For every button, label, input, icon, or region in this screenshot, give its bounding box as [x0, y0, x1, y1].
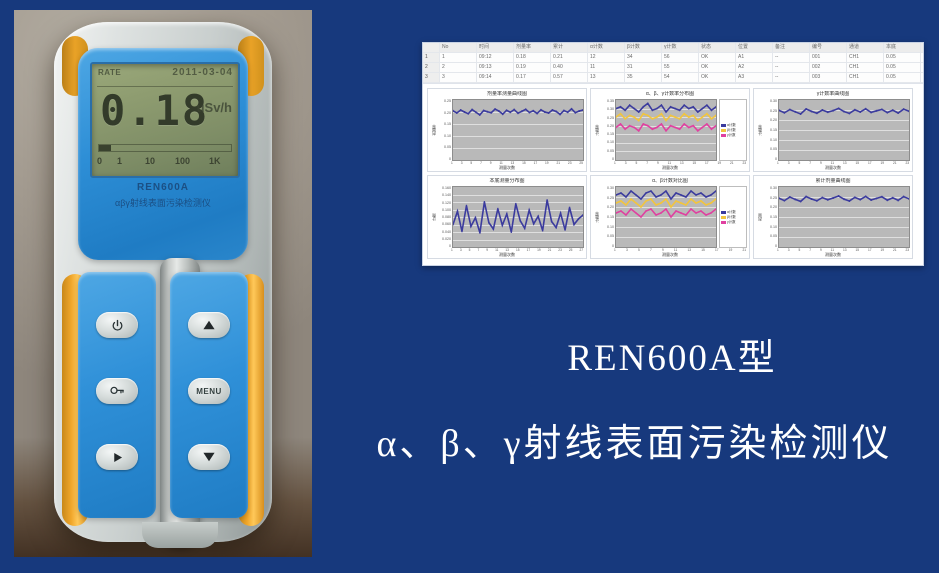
y-tick-label: 0.15	[600, 215, 614, 219]
series-marker	[860, 199, 861, 201]
series-marker	[716, 198, 717, 200]
table-row: 4409:150.180.75123357OKA4--004CH10.0532%…	[423, 83, 923, 84]
legend-item: β计数	[721, 128, 745, 132]
table-cell: 0.05	[884, 63, 921, 72]
spreadsheet-header-row: No时间剂量率累计α计数β计数γ计数状态位置备注编号通道本底效率均值	[423, 43, 923, 53]
series-marker	[461, 230, 462, 232]
series-marker	[506, 213, 507, 215]
series-marker	[832, 110, 833, 112]
y-tick-label: 0	[437, 244, 451, 248]
series-marker	[706, 196, 707, 198]
series-marker	[688, 116, 689, 118]
series-marker	[520, 220, 521, 222]
chart-x-axis-label: 测量次数	[591, 165, 749, 171]
y-tick-label: 0.060	[437, 222, 451, 226]
series-marker	[525, 108, 526, 110]
table-cell: 0.17	[514, 73, 551, 82]
chart-background: 本底测量分布图计数0.1600.1400.1200.1000.0800.0600…	[427, 175, 587, 259]
legend-swatch	[721, 134, 726, 137]
series-marker	[620, 123, 621, 125]
series-marker	[854, 196, 855, 198]
column-header-cell: 累计	[551, 43, 588, 52]
lcd-status-left: RATE	[98, 68, 121, 77]
series-marker	[811, 198, 812, 200]
series-marker	[681, 212, 682, 214]
series-marker	[631, 208, 632, 210]
y-tick-label: 0.05	[600, 234, 614, 238]
series-marker	[661, 123, 662, 125]
series-marker	[488, 222, 489, 224]
series-marker	[892, 109, 893, 111]
series-marker	[514, 109, 515, 111]
series-marker	[903, 108, 904, 110]
lcd-scale-4: 1K	[209, 156, 231, 166]
series-marker	[651, 198, 652, 200]
series-marker	[638, 130, 639, 132]
y-tick-label: 0	[600, 157, 614, 161]
row-index-cell	[423, 43, 440, 52]
caption-model: REN600A型	[422, 327, 922, 381]
series-marker	[691, 198, 692, 200]
y-tick-label: 0.30	[763, 186, 777, 190]
y-tick-label: 0	[763, 244, 777, 248]
series-marker	[506, 109, 507, 111]
table-cell: 0.21	[551, 53, 588, 62]
y-tick-label: 0.20	[600, 205, 614, 209]
series-marker	[706, 113, 707, 115]
chart-y-axis-label: 计数率	[593, 186, 600, 248]
legend-swatch	[721, 221, 726, 224]
series-marker	[638, 120, 639, 122]
table-cell: 13	[588, 73, 625, 82]
series-marker	[800, 200, 801, 202]
series-marker	[670, 114, 671, 116]
series-marker	[822, 109, 823, 111]
series-marker	[671, 206, 672, 208]
row-index-cell: 3	[423, 73, 440, 82]
series-marker	[629, 114, 630, 116]
table-cell: 0.18	[514, 83, 551, 84]
table-cell: 004	[810, 83, 847, 84]
table-cell: 09:15	[477, 83, 514, 84]
table-cell: CH1	[847, 53, 884, 62]
chart-title: 本底测量分布图	[430, 178, 584, 185]
chart-y-ticks: 0.300.250.200.150.100.050	[763, 99, 778, 161]
series-line	[616, 103, 716, 112]
series-marker	[666, 111, 667, 113]
table-cell: 1	[440, 53, 477, 62]
chart-y-ticks: 0.300.250.200.150.100.050	[763, 186, 778, 248]
chart-body: 计数率0.350.300.250.200.150.100.050α计数β计数γ计…	[593, 99, 747, 161]
table-row: 2209:130.190.40113155OKA2--002CH10.0532%…	[423, 63, 923, 73]
series-marker	[706, 204, 707, 206]
row-index-cell: 1	[423, 53, 440, 62]
series-marker	[471, 109, 472, 111]
legend-item: β计数	[721, 215, 745, 219]
series-marker	[666, 120, 667, 122]
series-marker	[579, 110, 580, 112]
series-marker	[897, 112, 898, 114]
data-spreadsheet[interactable]: No时间剂量率累计α计数β计数γ计数状态位置备注编号通道本底效率均值1109:1…	[423, 43, 923, 84]
table-cell: A4	[736, 83, 773, 84]
series-marker	[881, 108, 882, 110]
play-icon	[111, 451, 124, 464]
series-marker	[656, 204, 657, 206]
series-marker	[865, 195, 866, 197]
table-cell: 32%	[921, 53, 923, 62]
legend-label: γ计数	[727, 133, 735, 137]
series-marker	[661, 202, 662, 204]
series-marker	[529, 112, 530, 114]
series-marker	[805, 108, 806, 110]
series-marker	[629, 125, 630, 127]
series-marker	[479, 232, 480, 234]
y-tick-label: 0.25	[763, 109, 777, 113]
series-marker	[544, 111, 545, 113]
series-marker	[666, 130, 667, 132]
y-tick-label: 0	[763, 157, 777, 161]
series-marker	[688, 108, 689, 110]
series-marker	[453, 110, 454, 112]
series-marker	[647, 114, 648, 116]
chart-x-axis-label: 测量次数	[428, 165, 586, 171]
y-tick-label: 0.020	[437, 237, 451, 241]
series-marker	[646, 200, 647, 202]
series-marker	[697, 111, 698, 113]
column-header-cell: 位置	[736, 43, 773, 52]
chart-y-ticks: 0.350.300.250.200.150.100.050	[600, 99, 615, 161]
table-cell: 001	[810, 53, 847, 62]
series-marker	[468, 113, 469, 115]
table-cell: 32%	[921, 73, 923, 82]
table-cell: 0.05	[884, 83, 921, 84]
series-marker	[684, 123, 685, 125]
series-marker	[865, 108, 866, 110]
y-tick-label: 0.120	[437, 201, 451, 205]
series-marker	[626, 196, 627, 198]
chart-y-axis-label: 计数率	[593, 99, 600, 161]
chart-title: 累计剂量曲线图	[756, 178, 910, 185]
series-marker	[484, 201, 485, 203]
series-marker	[832, 197, 833, 199]
series-line	[616, 114, 716, 121]
series-marker	[706, 123, 707, 125]
series-marker	[502, 113, 503, 115]
series-marker	[843, 111, 844, 113]
series-marker	[702, 108, 703, 110]
series-marker	[567, 111, 568, 113]
chart-y-axis-label: 剂量	[756, 186, 763, 248]
chart-series-svg	[779, 187, 909, 247]
series-marker	[483, 110, 484, 112]
power-button[interactable]	[96, 312, 138, 338]
chart-gamma-rate: γ计数率曲线图计数率0.300.250.200.150.100.05013579…	[753, 88, 913, 172]
series-marker	[681, 194, 682, 196]
y-tick-label: 0.15	[437, 122, 451, 126]
series-marker	[711, 202, 712, 204]
chart-series-svg	[616, 187, 716, 247]
series-marker	[903, 196, 904, 198]
series-marker	[647, 102, 648, 104]
series-marker	[521, 110, 522, 112]
table-cell: 002	[810, 63, 847, 72]
chart-series-svg	[453, 100, 583, 160]
lcd-scale-1: 1	[117, 156, 145, 166]
table-cell: 0.05	[884, 53, 921, 62]
chart-y-ticks: 0.250.200.150.100.050	[437, 99, 452, 161]
series-marker	[641, 216, 642, 218]
series-marker	[651, 190, 652, 192]
chart-dose-rate: 剂量率测量曲线图剂量率0.250.200.150.100.05013579111…	[427, 88, 587, 172]
chart-body: 计数率0.300.250.200.150.100.050	[756, 99, 910, 161]
series-marker	[876, 197, 877, 199]
series-marker	[822, 197, 823, 199]
series-marker	[661, 104, 662, 106]
series-marker	[621, 192, 622, 194]
series-marker	[706, 104, 707, 106]
series-marker	[529, 209, 530, 211]
series-marker	[870, 199, 871, 201]
series-marker	[686, 196, 687, 198]
table-cell: OK	[699, 73, 736, 82]
series-marker	[838, 107, 839, 109]
table-cell: A3	[736, 73, 773, 82]
series-marker	[575, 112, 576, 114]
table-cell: 12	[588, 83, 625, 84]
product-photo: RATE 2011-03-04 0.18 uSv/h 0 1 10 100 1K	[14, 10, 312, 557]
series-marker	[661, 194, 662, 196]
series-marker	[456, 112, 457, 114]
column-header-cell: 效率	[921, 43, 923, 52]
lcd-scale-0: 0	[97, 156, 117, 166]
series-marker	[816, 200, 817, 202]
series-marker	[693, 125, 694, 127]
series-marker	[676, 192, 677, 194]
series-marker	[625, 118, 626, 120]
y-tick-label: 0.15	[600, 132, 614, 136]
series-marker	[498, 110, 499, 112]
table-cell: 0.05	[884, 73, 921, 82]
series-marker	[616, 202, 617, 204]
series-marker	[631, 190, 632, 192]
legend-item: α计数	[721, 123, 745, 127]
series-marker	[641, 206, 642, 208]
y-tick-label: 0.25	[437, 99, 451, 103]
series-marker	[634, 126, 635, 128]
search-button[interactable]	[96, 378, 138, 404]
series-marker	[453, 224, 454, 226]
series-marker	[671, 216, 672, 218]
row-index-cell: 2	[423, 63, 440, 72]
chart-body: 计数0.1600.1400.1200.1000.0800.0600.0400.0…	[430, 186, 584, 248]
series-marker	[479, 114, 480, 116]
series-marker	[470, 225, 471, 227]
series-marker	[661, 212, 662, 214]
table-cell: 09:12	[477, 53, 514, 62]
chart-y-axis-label: 剂量率	[430, 99, 437, 161]
table-cell: 0.19	[514, 63, 551, 72]
series-marker	[789, 109, 790, 111]
series-marker	[779, 109, 780, 111]
y-tick-label: 0.040	[437, 230, 451, 234]
table-cell: --	[773, 53, 810, 62]
chart-plot-area	[615, 186, 717, 248]
series-marker	[716, 106, 717, 108]
series-marker	[656, 214, 657, 216]
slide-root: RATE 2011-03-04 0.18 uSv/h 0 1 10 100 1K	[0, 0, 939, 573]
series-marker	[625, 128, 626, 130]
y-tick-label: 0.20	[763, 205, 777, 209]
lcd-status-right: 2011-03-04	[172, 67, 233, 78]
series-marker	[676, 200, 677, 202]
series-marker	[571, 108, 572, 110]
series-marker	[491, 112, 492, 114]
chart-y-ticks: 0.1600.1400.1200.1000.0800.0600.0400.020…	[437, 186, 452, 248]
series-marker	[556, 111, 557, 113]
table-cell: 11	[588, 63, 625, 72]
series-marker	[515, 203, 516, 205]
series-marker	[560, 212, 561, 214]
series-marker	[854, 109, 855, 111]
lcd-scale-3: 100	[175, 156, 209, 166]
series-marker	[675, 108, 676, 110]
series-marker	[582, 109, 583, 111]
table-cell: 55	[662, 63, 699, 72]
series-marker	[716, 208, 717, 210]
legend-item: γ计数	[721, 133, 745, 137]
series-marker	[636, 212, 637, 214]
series-marker	[466, 205, 467, 207]
series-marker	[684, 104, 685, 106]
series-marker	[629, 104, 630, 106]
table-cell: 56	[662, 53, 699, 62]
table-row: 1109:120.180.21123456OKA1--001CH10.0532%…	[423, 53, 923, 63]
chart-y-axis-label: 计数	[430, 186, 437, 248]
up-button[interactable]	[188, 312, 230, 338]
series-marker	[636, 202, 637, 204]
table-cell: OK	[699, 63, 736, 72]
series-marker	[691, 208, 692, 210]
column-header-cell: 剂量率	[514, 43, 551, 52]
y-tick-label: 0.20	[763, 118, 777, 122]
chart-title: α、β、γ计数率分布图	[593, 91, 747, 98]
y-tick-label: 0.15	[763, 128, 777, 132]
series-marker	[616, 212, 617, 214]
series-marker	[784, 112, 785, 114]
series-marker	[457, 210, 458, 212]
table-cell: 35	[625, 73, 662, 82]
series-marker	[696, 212, 697, 214]
series-marker	[656, 126, 657, 128]
lcd-unit: uSv/h	[197, 100, 232, 115]
chart-title: α、β计数对比图	[593, 178, 747, 185]
series-marker	[511, 231, 512, 233]
y-tick-label: 0.10	[600, 140, 614, 144]
series-marker	[676, 210, 677, 212]
series-marker	[533, 110, 534, 112]
series-marker	[661, 113, 662, 115]
series-marker	[675, 116, 676, 118]
series-marker	[670, 125, 671, 127]
series-marker	[887, 199, 888, 201]
series-marker	[716, 190, 717, 192]
series-marker	[578, 218, 579, 220]
series-marker	[497, 208, 498, 210]
y-tick-label: 0.140	[437, 193, 451, 197]
chart-y-ticks: 0.300.250.200.150.100.050	[600, 186, 615, 248]
table-cell: 57	[662, 83, 699, 84]
row-index-cell: 4	[423, 83, 440, 84]
device-model-label: REN600A αβγ射线表面污染检测仪	[78, 182, 248, 209]
lcd-scale-2: 10	[145, 156, 175, 166]
series-marker	[643, 113, 644, 115]
series-marker	[656, 108, 657, 110]
table-cell: 09:14	[477, 73, 514, 82]
table-cell: 0.18	[514, 53, 551, 62]
legend-label: β计数	[727, 215, 736, 219]
chart-title: γ计数率曲线图	[756, 91, 910, 98]
series-marker	[638, 111, 639, 113]
series-marker	[675, 126, 676, 128]
series-marker	[693, 114, 694, 116]
column-header-cell: β计数	[625, 43, 662, 52]
series-marker	[652, 128, 653, 130]
chart-body: 剂量率0.250.200.150.100.050	[430, 99, 584, 161]
series-marker	[860, 111, 861, 113]
chart-x-axis-label: 测量次数	[428, 252, 586, 258]
series-marker	[475, 111, 476, 113]
series-marker	[569, 207, 570, 209]
series-marker	[670, 106, 671, 108]
down-button[interactable]	[188, 444, 230, 470]
lcd-display: RATE 2011-03-04 0.18 uSv/h 0 1 10 100 1K	[90, 62, 240, 178]
y-tick-label: 0.35	[600, 99, 614, 103]
table-cell: 12	[588, 53, 625, 62]
series-marker	[487, 111, 488, 113]
table-cell: 09:13	[477, 63, 514, 72]
y-tick-label: 0.080	[437, 215, 451, 219]
series-marker	[887, 112, 888, 114]
play-button[interactable]	[96, 444, 138, 470]
power-icon	[111, 319, 124, 332]
table-cell: --	[773, 73, 810, 82]
series-marker	[696, 202, 697, 204]
series-marker	[564, 229, 565, 231]
table-cell: 31	[625, 63, 662, 72]
series-marker	[524, 227, 525, 229]
series-marker	[652, 118, 653, 120]
table-cell: --	[773, 63, 810, 72]
y-tick-label: 0.30	[763, 99, 777, 103]
chart-x-axis-label: 测量次数	[754, 165, 912, 171]
series-marker	[800, 113, 801, 115]
series-marker	[517, 112, 518, 114]
lcd-scale-labels: 0 1 10 100 1K	[97, 156, 233, 166]
series-marker	[646, 192, 647, 194]
series-marker	[876, 110, 877, 112]
lcd-reading: 0.18	[100, 90, 209, 132]
column-header-cell: 编号	[810, 43, 847, 52]
y-tick-label: 0.25	[763, 196, 777, 200]
menu-button[interactable]: MENU	[188, 378, 230, 404]
series-marker	[711, 194, 712, 196]
series-marker	[666, 190, 667, 192]
series-marker	[784, 200, 785, 202]
series-marker	[540, 109, 541, 111]
device-body: RATE 2011-03-04 0.18 uSv/h 0 1 10 100 1K	[54, 22, 272, 542]
series-marker	[686, 214, 687, 216]
table-cell: 0.75	[551, 83, 588, 84]
